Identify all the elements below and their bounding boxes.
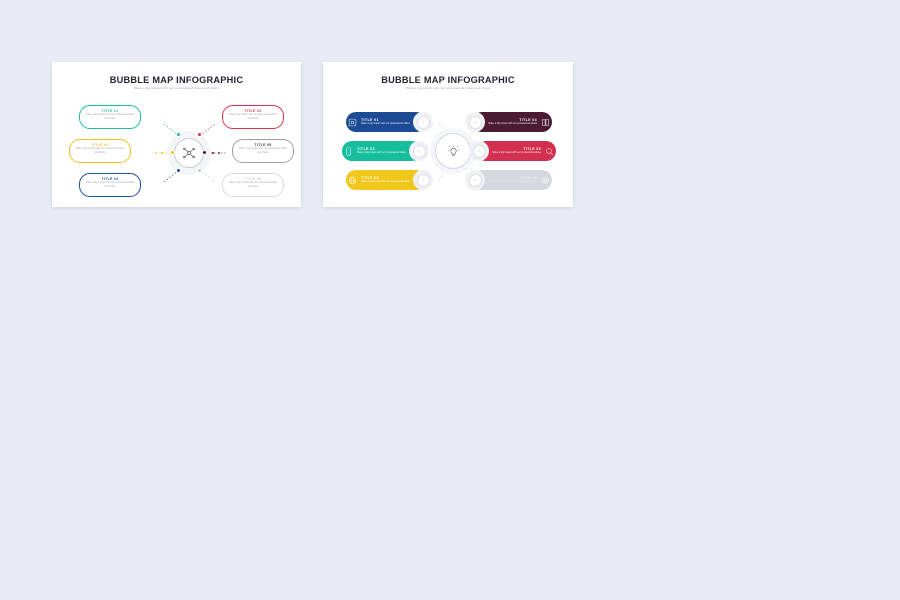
slide-surface: BUBBLE MAP INFOGRAPHIC Make a big impact… bbox=[328, 67, 568, 202]
pill-knob-01[interactable]: 1 bbox=[413, 112, 433, 132]
bubble-title-05: TITLE 05 bbox=[237, 143, 289, 147]
bubble-card-02[interactable]: TITLE 02 Make a big impact with our prof… bbox=[69, 139, 131, 163]
bubble-desc-01: Make a big impact with our professional … bbox=[84, 114, 136, 121]
search-idea-icon bbox=[543, 145, 556, 158]
canvas: BUBBLE MAP INFOGRAPHIC Make a big impact… bbox=[0, 0, 900, 600]
bubble-title-06: TITLE 06 bbox=[227, 177, 279, 181]
pill-knob-number-06: 6 bbox=[469, 174, 482, 187]
pill-knob-02[interactable]: 2 bbox=[409, 141, 429, 161]
bubble-card-05[interactable]: TITLE 05 Make a big impact with our prof… bbox=[232, 139, 294, 163]
bubble-desc-02: Make a big impact with our professional … bbox=[74, 148, 126, 155]
pill-knob-number-03: 3 bbox=[417, 174, 430, 187]
slide-bubble-map-filled[interactable]: BUBBLE MAP INFOGRAPHIC Make a big impact… bbox=[323, 62, 573, 207]
bubble-desc-05: Make a big impact with our professional … bbox=[237, 148, 289, 155]
lightbulb-idea-icon bbox=[447, 145, 460, 158]
bubble-card-01[interactable]: TITLE 01 Make a big impact with our prof… bbox=[79, 105, 141, 129]
bubble-desc-04: Make a big impact with our professional … bbox=[227, 114, 279, 121]
mobile-icon bbox=[342, 145, 355, 158]
pill-knob-03[interactable]: 3 bbox=[413, 170, 433, 190]
gear-icon bbox=[539, 174, 552, 187]
pill-knob-06[interactable]: 6 bbox=[465, 170, 485, 190]
pill-knob-number-05: 5 bbox=[473, 145, 486, 158]
pill-knob-number-01: 1 bbox=[417, 116, 430, 129]
globe-icon bbox=[346, 174, 359, 187]
slide-bubble-map-outline[interactable]: BUBBLE MAP INFOGRAPHIC Make a big impact… bbox=[52, 62, 301, 207]
bubble-title-02: TITLE 02 bbox=[74, 143, 126, 147]
network-hub-icon bbox=[174, 138, 204, 168]
bubble-card-03[interactable]: TITLE 03 Make a big impact with our prof… bbox=[79, 173, 141, 197]
pill-knob-04[interactable]: 4 bbox=[465, 112, 485, 132]
slide-surface: BUBBLE MAP INFOGRAPHIC Make a big impact… bbox=[57, 67, 296, 202]
pill-knob-number-04: 4 bbox=[469, 116, 482, 129]
bubble-card-06[interactable]: TITLE 06 Make a big impact with our prof… bbox=[222, 173, 284, 197]
bubble-card-04[interactable]: TITLE 04 Make a big impact with our prof… bbox=[222, 105, 284, 129]
bubble-desc-03: Make a big impact with our professional … bbox=[84, 182, 136, 189]
bubble-title-03: TITLE 03 bbox=[84, 177, 136, 181]
puzzle-icon bbox=[346, 116, 359, 129]
center-hub-ring[interactable] bbox=[435, 133, 471, 169]
pill-knob-number-02: 2 bbox=[413, 145, 426, 158]
bubble-title-01: TITLE 01 bbox=[84, 109, 136, 113]
pill-knob-05[interactable]: 5 bbox=[469, 141, 489, 161]
bubble-title-04: TITLE 04 bbox=[227, 109, 279, 113]
bubble-desc-06: Make a big impact with our professional … bbox=[227, 182, 279, 189]
book-icon bbox=[539, 116, 552, 129]
